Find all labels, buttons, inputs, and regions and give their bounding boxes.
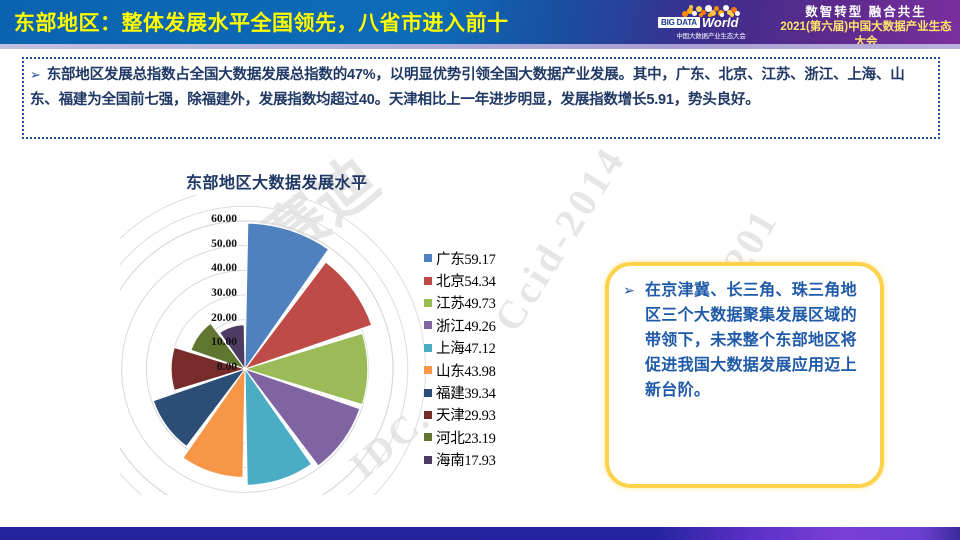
axis-tick-label: 30.00 [211, 287, 237, 299]
legend-item-label: 山东43.98 [436, 360, 496, 381]
legend-swatch-icon [424, 254, 432, 262]
legend-item: 海南17.93 [424, 449, 544, 471]
conclusion-bullet-arrow-icon: ➢ [623, 282, 635, 299]
legend-item: 广东59.17 [424, 247, 544, 269]
legend-item-label: 上海47.12 [436, 337, 496, 358]
conclusion-text: 在京津冀、长三角、珠三角地区三个大数据聚集发展区域的带领下，未来整个东部地区将促… [645, 278, 867, 403]
legend-item: 北京54.34 [424, 269, 544, 291]
legend-swatch-icon [424, 277, 432, 285]
legend-item: 福建39.34 [424, 381, 544, 403]
logo-subtitle: 中国大数据产业生态大会 [658, 30, 764, 40]
legend-item: 浙江49.26 [424, 314, 544, 336]
bullet-arrow-icon: ➢ [30, 67, 41, 82]
chart-title: 东部地区大数据发展水平 [186, 169, 368, 193]
summary-callout-text: ➢东部地区发展总指数占全国大数据发展总指数的47%，以明显优势引领全国大数据产业… [30, 62, 930, 113]
logo-wordmark: BIG DATA World [658, 15, 764, 29]
legend-swatch-icon [424, 433, 432, 441]
header-accent-strip [0, 44, 960, 49]
legend-swatch-icon [424, 344, 432, 352]
tagline-line-1: 数智转型 融合共生 [776, 5, 956, 20]
legend-swatch-icon [424, 321, 432, 329]
legend-swatch-icon [424, 456, 432, 464]
legend-item: 江苏49.73 [424, 292, 544, 314]
page-title: 东部地区：整体发展水平全国领先，八省市进入前十 [14, 7, 509, 37]
axis-tick-label: 20.00 [211, 312, 237, 324]
axis-tick-label: 40.00 [211, 262, 237, 274]
axis-tick-label: 50.00 [211, 238, 237, 250]
legend-swatch-icon [424, 411, 432, 419]
legend-item-label: 浙江49.26 [436, 315, 496, 336]
legend-item-label: 天津29.93 [436, 404, 496, 425]
logo-world-text: World [702, 16, 739, 29]
chart-legend: 广东59.17北京54.34江苏49.73浙江49.26上海47.12山东43.… [424, 247, 544, 471]
axis-tick-label: 10.00 [211, 336, 237, 348]
legend-item: 上海47.12 [424, 337, 544, 359]
summary-callout-body: 东部地区发展总指数占全国大数据发展总指数的47%，以明显优势引领全国大数据产业发… [30, 67, 905, 108]
legend-item: 山东43.98 [424, 359, 544, 381]
logo-badge-text: BIG DATA [658, 17, 700, 28]
axis-tick-label: 0.00 [217, 361, 237, 373]
legend-swatch-icon [424, 366, 432, 374]
conclusion-box: ➢ 在京津冀、长三角、珠三角地区三个大数据聚集发展区域的带领下，未来整个东部地区… [605, 262, 884, 488]
slide-header: 东部地区：整体发展水平全国领先，八省市进入前十 BIG DATA World 中… [0, 0, 960, 44]
legend-item: 河北23.19 [424, 426, 544, 448]
polar-rose-chart: 0.0010.0020.0030.0040.0050.0060.00 [120, 195, 450, 495]
chart-axis-labels: 0.0010.0020.0030.0040.0050.0060.00 [120, 195, 450, 495]
conference-tagline: 数智转型 融合共生 2021(第六届)中国大数据产业生态大会 [776, 5, 956, 44]
legend-item-label: 海南17.93 [436, 449, 496, 470]
legend-swatch-icon [424, 389, 432, 397]
axis-tick-label: 60.00 [211, 213, 237, 225]
legend-swatch-icon [424, 299, 432, 307]
big-data-world-logo: BIG DATA World 中国大数据产业生态大会 [658, 4, 764, 40]
legend-item-label: 福建39.34 [436, 382, 496, 403]
legend-item-label: 广东59.17 [436, 248, 496, 269]
legend-item: 天津29.93 [424, 404, 544, 426]
tagline-line-2: 2021(第六届)中国大数据产业生态大会 [776, 20, 956, 44]
summary-callout-box: ➢东部地区发展总指数占全国大数据发展总指数的47%，以明显优势引领全国大数据产业… [22, 57, 940, 139]
legend-item-label: 河北23.19 [436, 427, 496, 448]
legend-item-label: 北京54.34 [436, 270, 496, 291]
slide-footer-bar [0, 527, 960, 540]
legend-item-label: 江苏49.73 [436, 292, 496, 313]
